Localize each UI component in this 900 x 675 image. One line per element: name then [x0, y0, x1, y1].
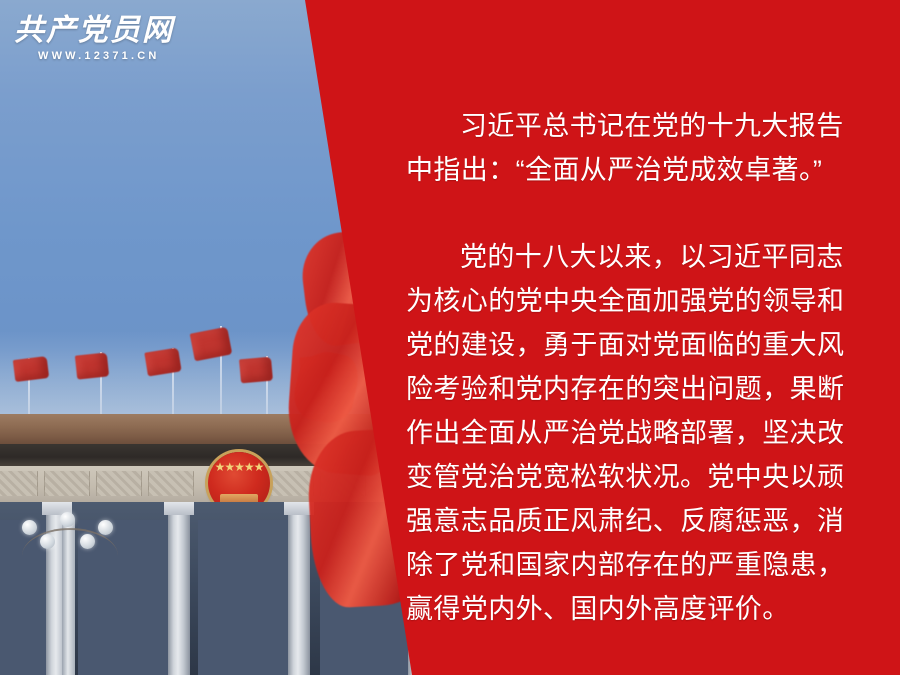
frieze-panel — [44, 471, 90, 496]
paragraph-quote: 习近平总书记在党的十九大报告中指出：“全面从严治党成效卓著。” — [406, 104, 868, 192]
site-logo[interactable]: 共产党员网 WWW.12371.CN — [14, 14, 174, 62]
frieze-panel — [148, 471, 194, 496]
street-lamp-globe — [60, 512, 75, 527]
building-window — [198, 520, 290, 675]
paragraph-detail: 党的十八大以来，以习近平同志为核心的党中央全面加强党的领导和党的建设，勇于面对党… — [406, 235, 868, 631]
article-body: 习近平总书记在党的十九大报告中指出：“全面从严治党成效卓著。” 党的十八大以来，… — [406, 104, 868, 631]
building-column — [288, 502, 310, 675]
red-flag — [239, 357, 273, 384]
building-column — [168, 502, 190, 675]
frieze-panel — [320, 471, 366, 496]
logo-wordmark: 共产党员网 — [14, 14, 174, 48]
street-lamp-globe — [22, 520, 37, 535]
street-lamp-globe — [98, 520, 113, 535]
building-roof — [0, 414, 430, 444]
poster-canvas: ★★★★★ 共产党员网 WWW.12371.CN — [0, 0, 900, 675]
street-lamp-globe — [80, 534, 95, 549]
logo-url: WWW.12371.CN — [38, 50, 174, 62]
emblem-stars: ★★★★★ — [208, 462, 270, 473]
red-flag — [299, 354, 333, 379]
frieze-panel — [0, 471, 38, 496]
red-flag — [75, 352, 109, 379]
frieze-panel — [268, 471, 314, 496]
red-flag — [13, 356, 49, 382]
street-lamp-globe — [40, 534, 55, 549]
frieze-panel — [96, 471, 142, 496]
